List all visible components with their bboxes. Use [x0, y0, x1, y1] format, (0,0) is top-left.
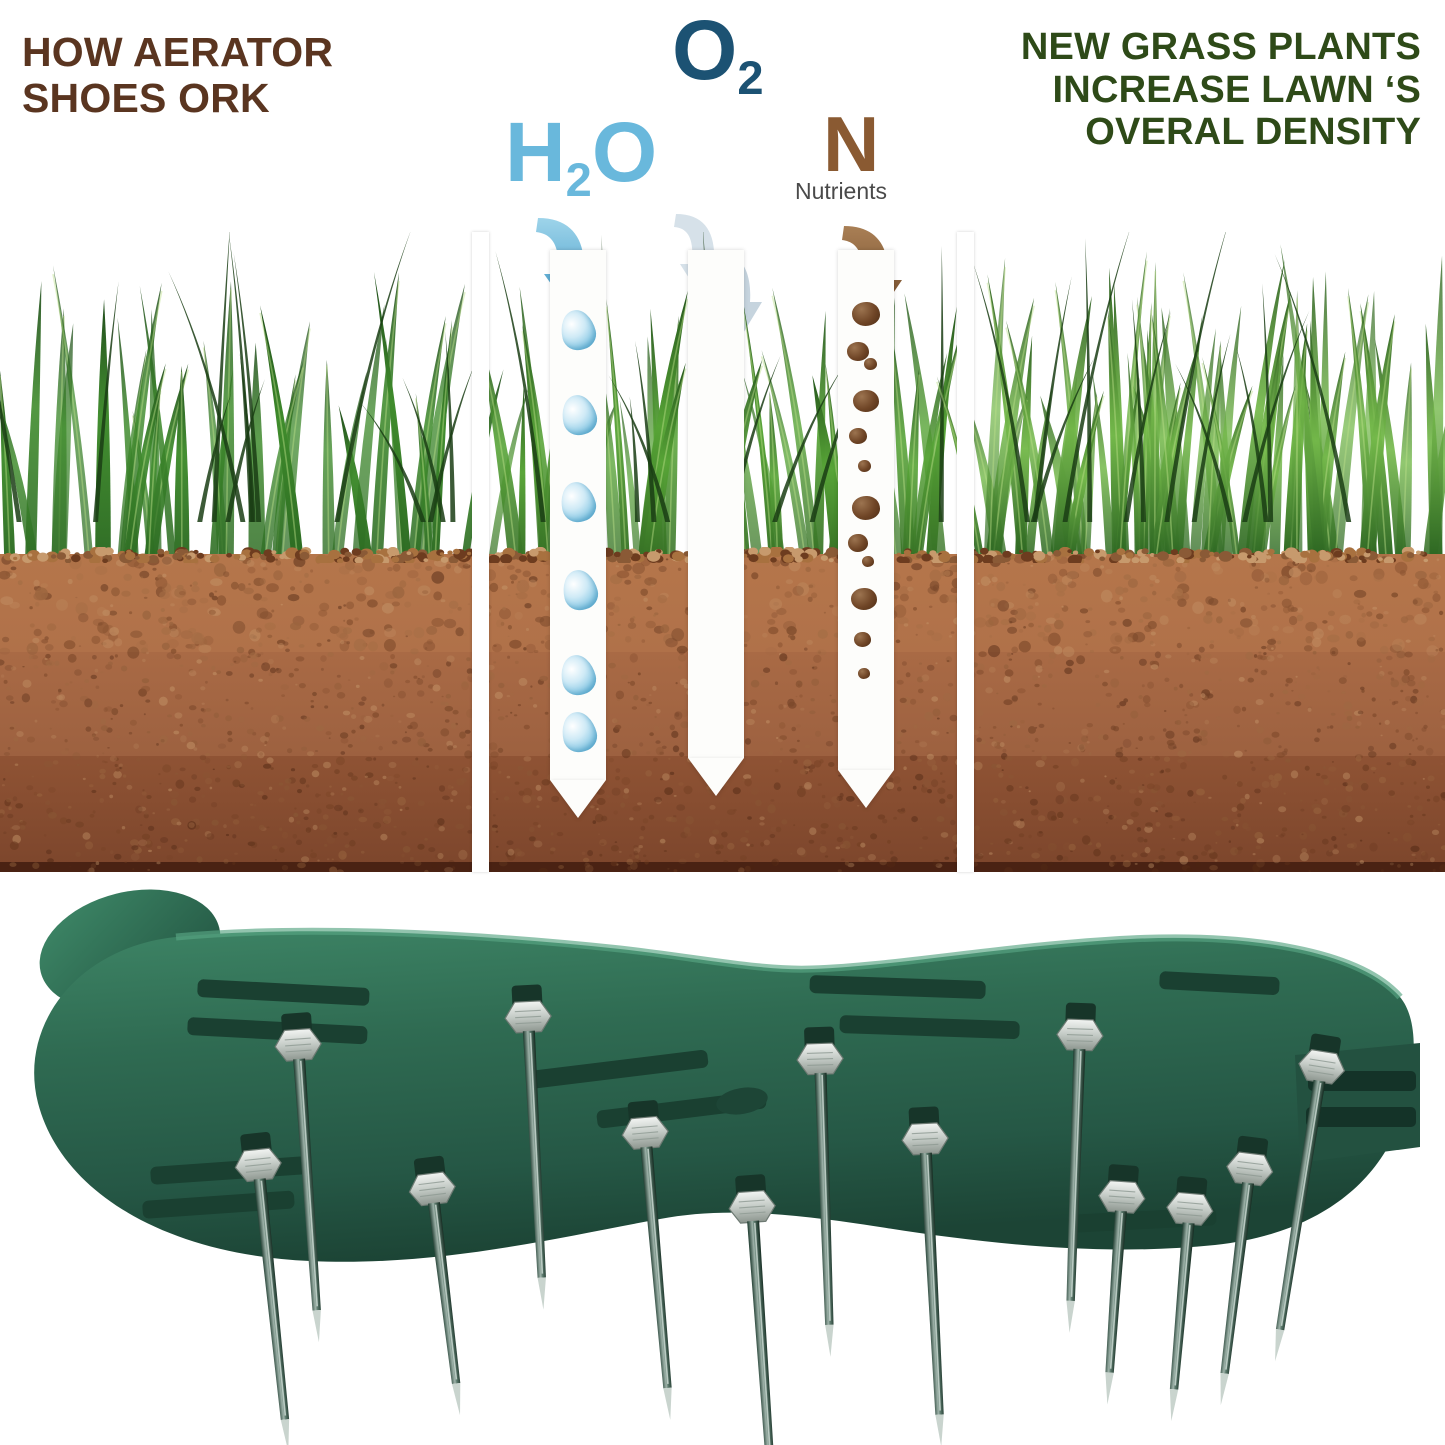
soil-granule: [613, 602, 615, 604]
soil-granule: [1379, 723, 1381, 725]
soil-granule: [279, 798, 285, 803]
soil-granule: [285, 649, 290, 653]
soil-granule: [1341, 805, 1350, 813]
soil-granule: [171, 649, 177, 654]
soil-granule: [1209, 865, 1218, 870]
soil-granule: [1054, 646, 1063, 654]
nutrient-pellet: [858, 668, 870, 679]
soil-granule: [390, 715, 393, 717]
soil-granule: [517, 851, 525, 856]
soil-granule: [29, 606, 32, 609]
soil-granule: [1359, 618, 1365, 623]
soil-granule: [6, 695, 14, 700]
soil-granule: [451, 790, 457, 796]
soil-granule: [48, 812, 57, 819]
soil-granule: [519, 678, 528, 686]
soil-granule: [1309, 570, 1312, 572]
soil-granule: [1440, 718, 1444, 721]
soil-granule: [1366, 611, 1372, 616]
soil-granule: [545, 606, 550, 611]
soil-granule: [191, 586, 200, 593]
soil-granule: [978, 583, 980, 585]
soil-granule: [365, 776, 368, 778]
soil-granule: [279, 783, 284, 786]
soil-granule: [446, 564, 451, 569]
soil-granule: [1095, 675, 1099, 679]
soil-granule: [180, 665, 184, 667]
soil-granule: [296, 840, 302, 846]
soil-granule: [1332, 651, 1336, 654]
soil-granule: [529, 827, 534, 833]
soil-granule: [276, 668, 279, 671]
soil-granule: [976, 670, 983, 675]
soil-crumb: [1139, 556, 1149, 563]
soil-granule: [392, 740, 398, 744]
soil-granule: [34, 792, 38, 796]
soil-granule: [1164, 710, 1167, 712]
soil-granule: [1177, 759, 1184, 763]
spike-tip: [663, 1388, 674, 1421]
soil-granule: [248, 583, 251, 585]
soil-granule: [307, 751, 314, 756]
soil-granule: [275, 859, 277, 861]
soil-granule: [1005, 669, 1014, 677]
soil-granule: [793, 824, 795, 826]
soil-granule: [614, 719, 619, 724]
soil-granule: [975, 853, 984, 859]
soil-granule: [46, 850, 52, 855]
soil-granule: [989, 852, 993, 855]
soil-granule: [317, 643, 322, 647]
soil-granule: [1153, 563, 1157, 567]
soil-granule: [171, 845, 177, 850]
soil-granule: [769, 598, 782, 610]
soil-granule: [920, 828, 923, 830]
soil-granule: [26, 785, 33, 790]
soil-granule: [907, 587, 914, 592]
soil-granule: [117, 735, 120, 738]
soil-granule: [947, 726, 956, 734]
soil-granule: [447, 745, 453, 750]
soil-granule: [674, 711, 682, 720]
soil-granule: [529, 697, 532, 700]
soil-crumb: [407, 551, 412, 555]
soil-granule: [901, 729, 906, 732]
soil-granule: [110, 756, 117, 762]
soil-granule: [632, 806, 641, 812]
soil-granule: [110, 604, 113, 607]
soil-granule: [1414, 796, 1420, 800]
soil-granule: [1194, 728, 1201, 733]
soil-granule: [126, 785, 132, 790]
soil-granule: [1102, 682, 1108, 687]
soil-granule: [1346, 796, 1353, 803]
soil-crumb: [177, 555, 183, 560]
soil-granule: [1110, 678, 1119, 687]
soil-granule: [414, 658, 421, 665]
soil-granule: [416, 679, 423, 685]
soil-granule: [1004, 838, 1012, 844]
soil-granule: [1117, 705, 1121, 708]
soil-granule: [882, 819, 887, 824]
soil-granule: [445, 719, 450, 722]
soil-granule: [1236, 824, 1239, 827]
soil-granule: [1313, 651, 1317, 655]
soil-granule: [1118, 608, 1125, 613]
soil-granule: [1381, 760, 1384, 762]
soil-granule: [1205, 720, 1210, 725]
soil-granule: [148, 850, 152, 852]
soil-granule: [788, 635, 791, 638]
soil-granule: [107, 747, 110, 749]
soil-granule: [1305, 622, 1317, 632]
soil-granule: [679, 752, 684, 757]
soil-granule: [1063, 646, 1075, 657]
soil-granule: [1231, 826, 1235, 830]
soil-granule: [1410, 846, 1419, 852]
soil-granule: [1344, 834, 1347, 836]
soil-granule: [321, 668, 324, 671]
soil-granule: [358, 702, 364, 706]
soil-granule: [1093, 568, 1102, 577]
soil-granule: [1109, 621, 1116, 626]
soil-granule: [507, 840, 514, 845]
soil-granule: [111, 718, 113, 720]
soil-granule: [911, 816, 918, 822]
soil-granule: [367, 599, 378, 607]
soil-granule: [263, 764, 271, 769]
soil-granule: [1348, 662, 1351, 665]
soil-granule: [931, 696, 938, 701]
soil-granule: [1396, 729, 1399, 733]
soil-granule: [897, 741, 902, 744]
soil-granule: [291, 768, 295, 771]
soil-granule: [361, 851, 365, 854]
soil-granule: [416, 578, 421, 582]
soil-granule: [425, 566, 432, 571]
soil-granule: [175, 773, 178, 775]
soil-granule: [356, 593, 366, 601]
soil-granule: [129, 732, 132, 735]
soil-granule: [410, 857, 414, 860]
soil-granule: [1166, 598, 1172, 602]
soil-granule: [993, 798, 998, 803]
soil-granule: [998, 772, 1003, 777]
soil-granule: [1042, 684, 1047, 687]
soil-granule: [323, 814, 329, 819]
soil-granule: [122, 826, 125, 829]
soil-granule: [324, 579, 329, 584]
soil-granule: [1415, 699, 1424, 706]
soil-granule: [41, 639, 48, 644]
soil-granule: [919, 847, 922, 849]
soil-granule: [210, 578, 222, 586]
soil-crumb: [1126, 552, 1134, 558]
soil-granule: [1240, 798, 1246, 804]
soil-granule: [336, 626, 348, 638]
soil-crumb: [1073, 551, 1078, 555]
soil-granule: [1000, 742, 1005, 747]
soil-granule: [1051, 815, 1057, 820]
soil-granule: [1237, 781, 1243, 787]
soil-granule: [72, 752, 80, 760]
soil-granule: [1049, 862, 1053, 866]
soil-granule: [71, 636, 76, 641]
soil-granule: [1284, 748, 1288, 752]
soil-granule: [1035, 602, 1039, 606]
soil-granule: [511, 581, 514, 584]
soil-crumb: [672, 551, 685, 561]
soil-granule: [316, 725, 324, 731]
soil-granule: [1122, 864, 1124, 865]
soil-granule: [295, 684, 297, 686]
soil-granule: [166, 855, 173, 860]
soil-granule: [8, 867, 10, 869]
soil-granule: [426, 626, 437, 635]
h2o-sub: 2: [566, 153, 592, 206]
soil-granule: [599, 854, 602, 857]
soil-granule: [167, 808, 171, 810]
soil-granule: [341, 738, 349, 744]
soil-granule: [935, 662, 937, 664]
soil-granule: [1076, 655, 1085, 664]
soil-granule: [1407, 726, 1413, 731]
soil-granule: [370, 630, 375, 634]
soil-granule: [1291, 770, 1298, 778]
soil-granule: [804, 648, 808, 651]
air-channel-shaft: [688, 250, 744, 758]
soil-granule: [1113, 649, 1117, 652]
soil-granule: [1165, 654, 1171, 658]
soil-granule: [1192, 602, 1204, 614]
soil-granule: [1361, 805, 1365, 809]
soil-granule: [1031, 853, 1040, 859]
soil-granule: [275, 706, 281, 710]
soil-granule: [1222, 775, 1227, 780]
soil-granule: [1123, 739, 1132, 748]
soil-granule: [933, 709, 941, 717]
soil-granule: [1100, 565, 1104, 568]
soil-granule: [1130, 711, 1138, 719]
soil-granule: [448, 785, 452, 789]
soil-granule: [670, 725, 675, 731]
soil-granule: [114, 638, 122, 646]
soil-granule: [939, 798, 945, 803]
soil-crumb: [467, 552, 471, 555]
soil-granule: [455, 627, 463, 636]
soil-granule: [415, 758, 418, 761]
soil-granule: [1441, 763, 1444, 765]
soil-granule: [1271, 647, 1274, 649]
soil-granule: [922, 836, 928, 840]
soil-granule: [155, 577, 167, 589]
soil-granule: [678, 568, 682, 571]
soil-granule: [1290, 607, 1298, 612]
soil-granule: [1407, 820, 1415, 825]
soil-granule: [1240, 607, 1246, 613]
soil-granule: [804, 784, 811, 789]
soil-granule: [776, 827, 782, 833]
soil-crumb: [423, 558, 428, 562]
soil-granule: [147, 731, 151, 733]
soil-granule: [218, 743, 226, 748]
soil-crumb: [1359, 556, 1365, 561]
soil-granule: [838, 869, 842, 872]
soil-granule: [453, 710, 459, 715]
soil-granule: [356, 685, 360, 688]
soil-granule: [1251, 767, 1255, 772]
soil-granule: [240, 783, 244, 787]
soil-granule: [68, 654, 77, 663]
soil-granule: [399, 786, 402, 789]
soil-granule: [1407, 805, 1411, 808]
soil-granule: [234, 853, 238, 855]
soil-granule: [1343, 773, 1350, 780]
soil-granule: [159, 783, 161, 785]
soil-granule: [1439, 611, 1443, 615]
soil-granule: [1276, 835, 1279, 837]
soil-granule: [412, 760, 420, 767]
soil-crumb: [1378, 557, 1383, 561]
soil-granule: [1028, 623, 1034, 628]
soil-granule: [431, 571, 444, 583]
soil-granule: [175, 694, 182, 700]
soil-granule: [373, 822, 381, 829]
soil-granule: [633, 851, 638, 856]
soil-granule: [1199, 654, 1206, 660]
soil-granule: [343, 711, 350, 716]
soil-granule: [799, 694, 802, 697]
soil-granule: [902, 661, 907, 666]
soil-granule: [1085, 620, 1090, 623]
soil-granule: [1187, 690, 1191, 695]
soil-granule: [1402, 708, 1407, 711]
soil-granule: [1006, 582, 1009, 584]
soil-granule: [304, 573, 309, 578]
soil-granule: [299, 644, 305, 648]
soil-crumb: [1154, 554, 1158, 557]
soil-granule: [160, 837, 168, 843]
soil-granule: [441, 599, 446, 602]
soil-crumb: [1285, 547, 1298, 558]
soil-granule: [779, 760, 782, 763]
soil-granule: [138, 840, 147, 847]
soil-granule: [179, 606, 188, 613]
soil-granule: [790, 853, 792, 855]
soil-crumb: [1319, 550, 1326, 555]
soil-granule: [417, 844, 424, 850]
soil-granule: [789, 669, 797, 675]
soil-granule: [215, 778, 221, 783]
soil-granule: [231, 582, 239, 590]
soil-granule: [930, 570, 942, 583]
soil-granule: [232, 779, 240, 787]
soil-granule: [1128, 578, 1138, 588]
soil-granule: [1426, 695, 1429, 697]
soil-granule: [1183, 730, 1190, 735]
soil-granule: [1193, 855, 1199, 860]
soil-granule: [173, 731, 179, 735]
soil-crumb: [1209, 552, 1214, 556]
soil-granule: [1327, 690, 1330, 692]
soil-granule: [1374, 574, 1384, 582]
soil-granule: [1030, 565, 1033, 567]
soil-granule: [811, 756, 814, 758]
soil-granule: [1346, 781, 1353, 786]
grass-blade-midrib: [1155, 271, 1156, 562]
soil-granule: [281, 604, 283, 606]
soil-crumb: [1132, 557, 1140, 563]
soil-granule: [311, 849, 314, 852]
soil-granule: [116, 768, 120, 771]
h2o-h: H: [505, 105, 566, 199]
soil-granule: [1196, 789, 1205, 796]
soil-granule: [1229, 840, 1231, 843]
soil-granule: [536, 805, 539, 808]
soil-granule: [948, 683, 954, 687]
soil-granule: [7, 814, 13, 819]
soil-granule: [1391, 679, 1400, 687]
soil-granule: [466, 657, 470, 661]
soil-granule: [1423, 778, 1425, 780]
soil-granule: [1161, 770, 1164, 773]
soil-granule: [1254, 789, 1261, 794]
soil-granule: [502, 607, 506, 611]
soil-granule: [797, 740, 800, 742]
soil-granule: [383, 816, 391, 824]
soil-granule: [102, 610, 110, 616]
soil-crumb: [328, 550, 340, 560]
soil-granule: [178, 847, 185, 853]
soil-granule: [0, 659, 5, 665]
soil-granule: [1026, 612, 1036, 621]
soil-granule: [1038, 625, 1042, 627]
soil-granule: [508, 595, 511, 597]
soil-granule: [156, 743, 159, 746]
soil-granule: [1120, 747, 1123, 749]
soil-granule: [1044, 625, 1052, 633]
soil-granule: [616, 691, 624, 700]
soil-granule: [32, 862, 39, 869]
soil-granule: [1330, 725, 1334, 729]
soil-granule: [841, 858, 845, 860]
soil-granule: [1006, 785, 1013, 792]
heel-slot: [1306, 1107, 1416, 1127]
nutrient-pellet: [853, 390, 879, 412]
soil-granule: [1134, 798, 1142, 807]
soil-granule: [65, 739, 68, 742]
soil-granule: [541, 589, 547, 595]
soil-granule: [1295, 682, 1297, 684]
spike-tip: [1271, 1329, 1284, 1362]
soil-granule: [695, 853, 700, 858]
soil-granule: [162, 764, 171, 772]
lawn-cross-section: SHALLOW, WEAK ROOTS (BEFORE) NEW, DEEPER…: [0, 232, 1445, 872]
soil-granule: [348, 679, 350, 681]
soil-granule: [29, 592, 31, 594]
soil-granule: [709, 836, 717, 844]
soil-granule: [879, 859, 887, 865]
soil-granule: [131, 853, 140, 861]
soil-granule: [327, 858, 330, 860]
soil-granule: [1278, 745, 1281, 748]
soil-granule: [1208, 849, 1214, 853]
soil-granule: [615, 841, 617, 843]
soil-granule: [1433, 635, 1435, 637]
soil-granule: [1093, 849, 1101, 857]
soil-granule: [616, 768, 621, 773]
soil-granule: [337, 675, 341, 678]
